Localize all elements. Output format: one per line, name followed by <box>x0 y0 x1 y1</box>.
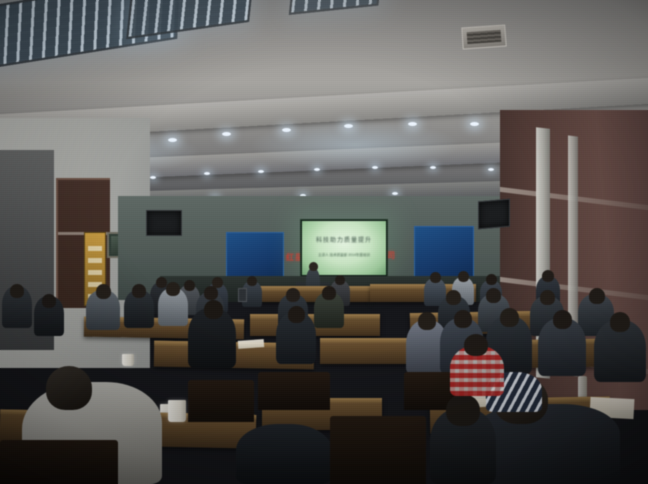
person-head <box>166 282 180 296</box>
person-head <box>464 334 488 356</box>
desk-row-far <box>246 286 370 302</box>
ceiling-downlight <box>282 128 291 132</box>
wall-speaker-left <box>146 210 182 236</box>
person-head <box>322 286 336 300</box>
person-head <box>204 286 218 300</box>
chair-back <box>258 372 330 410</box>
person-head <box>553 310 572 329</box>
person-head <box>589 288 605 304</box>
person-head <box>46 366 92 410</box>
troffer-louver <box>291 0 379 13</box>
person-head <box>204 300 223 319</box>
ceiling-troffer-far <box>289 0 381 15</box>
ceiling-downlight <box>258 170 264 173</box>
slide-title: 科技助力质量提升 <box>302 235 386 244</box>
troffer-louver <box>128 0 251 37</box>
white-mug <box>168 400 186 422</box>
ceiling-downlight <box>470 122 479 126</box>
ceiling-downlight <box>168 138 177 142</box>
person-head <box>286 288 300 302</box>
mobile-phone <box>238 288 247 302</box>
person-head <box>42 294 56 308</box>
person-head <box>288 306 305 323</box>
person-head <box>10 284 24 298</box>
chair-back <box>330 416 426 484</box>
person-head <box>335 275 345 285</box>
ceiling-downlight <box>392 192 398 195</box>
person-head <box>610 312 630 332</box>
ceiling-downlight <box>372 166 378 169</box>
conference-room-photo: 红星 公司 科技助力质量提升 主讲人 技术质量部 2014年度培训 <box>0 0 648 484</box>
person-head <box>458 271 469 282</box>
person-head <box>418 312 436 330</box>
person-head <box>132 284 146 298</box>
person-head <box>540 290 555 305</box>
blue-wall-panel-left <box>226 232 284 282</box>
person-head <box>486 274 497 285</box>
person-head <box>184 280 195 291</box>
wall-speaker-right <box>478 199 510 230</box>
person-head <box>430 272 441 283</box>
ceiling-troffer-center <box>126 0 254 39</box>
chair-back <box>0 440 118 484</box>
person-head <box>454 310 472 328</box>
person-head <box>446 394 480 426</box>
ceiling-downlight <box>314 168 320 171</box>
ceiling-downlight <box>150 176 156 179</box>
white-mug <box>122 354 134 366</box>
presenter-head <box>309 262 318 271</box>
desk-surface <box>246 286 370 291</box>
chair-back <box>188 380 254 422</box>
water-bottle <box>578 376 587 398</box>
person-head <box>500 308 519 327</box>
audience-person <box>236 424 332 484</box>
person-head <box>542 270 554 282</box>
person-head <box>486 288 501 303</box>
ceiling-downlight <box>344 124 353 128</box>
person-head <box>247 276 257 286</box>
ceiling-downlight <box>204 172 210 175</box>
ceiling-downlight <box>408 122 417 126</box>
ceiling-downlight <box>222 132 231 136</box>
ceiling-downlight <box>488 168 494 171</box>
person-head <box>446 290 461 305</box>
air-supply-vent <box>461 24 506 49</box>
person-head <box>96 284 111 299</box>
slide-subtitle: 主讲人 技术质量部 2014年度培训 <box>302 253 386 258</box>
ceiling-downlight <box>430 166 436 169</box>
